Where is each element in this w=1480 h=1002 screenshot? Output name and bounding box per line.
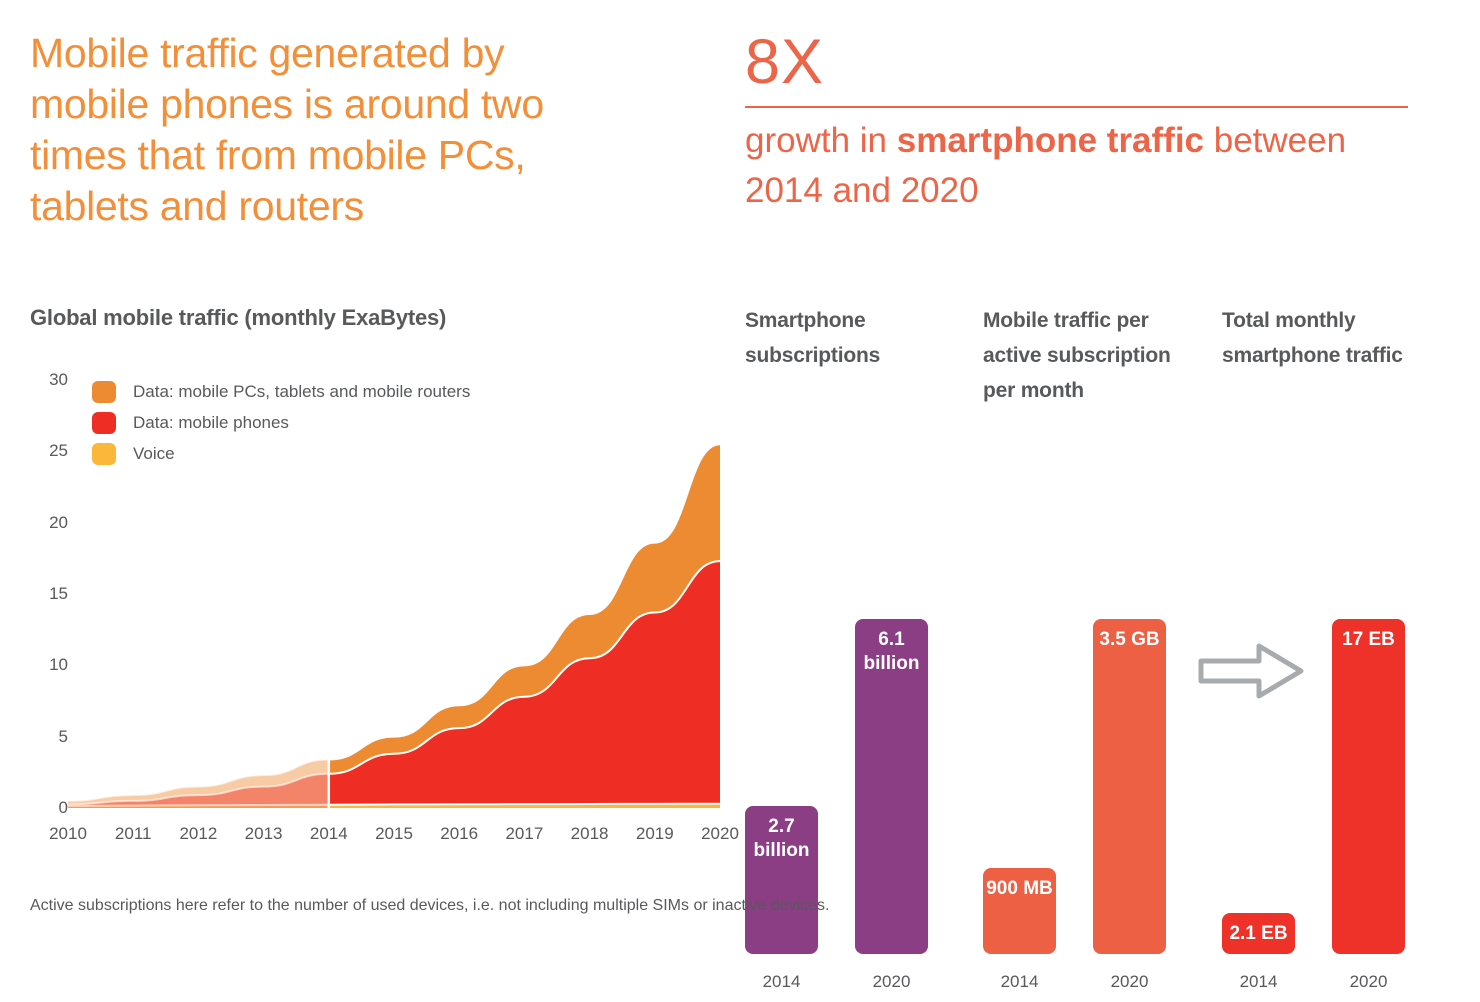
hero-divider (745, 106, 1408, 108)
x-axis-tick: 2012 (179, 824, 217, 844)
area-chart-plot (68, 380, 720, 808)
panel-bar-group: 2.7 billion20146.1 billion2020 (745, 502, 970, 1002)
chart-title: Global mobile traffic (monthly ExaBytes) (30, 305, 446, 331)
x-axis-tick: 2010 (49, 824, 87, 844)
x-axis-tick: 2014 (310, 824, 348, 844)
bar-column: 6.1 billion2020 (855, 619, 928, 954)
x-axis-tick: 2020 (701, 824, 739, 844)
bar-value-label: 2.1 EB (1229, 913, 1287, 954)
panel-title: Mobile traffic per active subscription p… (983, 303, 1208, 408)
bar-value-label: 3.5 GB (1099, 619, 1159, 954)
hero-subtitle-bold: smartphone traffic (897, 121, 1204, 160)
footnote: Active subscriptions here refer to the n… (30, 897, 830, 915)
bar-year-label: 2014 (983, 972, 1056, 992)
x-axis-tick: 2015 (375, 824, 413, 844)
bar-column: 900 MB2014 (983, 619, 1056, 954)
y-axis: 051015202530 (24, 370, 68, 820)
bar-year-label: 2014 (1222, 972, 1295, 992)
panel-bar-group: 900 MB20143.5 GB2020 (983, 502, 1208, 1002)
bar-value-label: 900 MB (986, 868, 1053, 954)
x-axis-tick: 2013 (245, 824, 283, 844)
bar-year-label: 2020 (1332, 972, 1405, 992)
y-axis-tick: 5 (59, 727, 68, 747)
x-axis-tick: 2018 (571, 824, 609, 844)
bar: 2.7 billion (745, 806, 818, 954)
bar-column: 3.5 GB2020 (1093, 619, 1166, 954)
x-axis-tick: 2017 (505, 824, 543, 844)
arrow-right-icon (1196, 640, 1306, 702)
panel-title: Total monthly smartphone traffic (1222, 303, 1447, 373)
hero-multiplier: 8X (745, 28, 1410, 96)
bar-value-label: 17 EB (1342, 619, 1395, 954)
panel-traffic-per-subscription: Mobile traffic per active subscription p… (983, 303, 1208, 408)
hero-subtitle-prefix: growth in (745, 121, 897, 160)
x-axis: 2010201120122013201420152016201720182019… (46, 824, 736, 850)
y-axis-tick: 25 (49, 441, 68, 461)
panel-smartphone-subscriptions: Smartphone subscriptions 2.7 billion2014… (745, 303, 970, 373)
y-axis-tick: 20 (49, 513, 68, 533)
infographic-page: Mobile traffic generated by mobile phone… (0, 0, 1480, 928)
y-axis-tick: 15 (49, 584, 68, 604)
y-axis-tick: 30 (49, 370, 68, 390)
bar: 2.1 EB (1222, 913, 1295, 954)
bar-year-label: 2020 (855, 972, 928, 992)
y-axis-tick: 0 (59, 798, 68, 818)
bar-year-label: 2020 (1093, 972, 1166, 992)
growth-arrow-icon (1196, 640, 1306, 702)
bar: 900 MB (983, 868, 1056, 954)
bar: 3.5 GB (1093, 619, 1166, 954)
hero-callout: 8X growth in smartphone traffic between … (745, 28, 1410, 216)
headline-left: Mobile traffic generated by mobile phone… (30, 28, 570, 232)
x-axis-tick: 2019 (636, 824, 674, 844)
bar-column: 17 EB2020 (1332, 619, 1405, 954)
panel-bar-group: 2.1 EB201417 EB2020 (1222, 502, 1447, 1002)
panel-title: Smartphone subscriptions (745, 303, 970, 373)
hero-subtitle: growth in smartphone traffic between 201… (745, 116, 1410, 216)
x-axis-tick: 2016 (440, 824, 478, 844)
area-chart-svg (68, 380, 720, 808)
y-axis-tick: 10 (49, 655, 68, 675)
bar: 6.1 billion (855, 619, 928, 954)
bar-value-label: 6.1 billion (864, 619, 920, 954)
bar-year-label: 2014 (745, 972, 818, 992)
bar: 17 EB (1332, 619, 1405, 954)
bar-value-label: 2.7 billion (754, 806, 810, 954)
panel-total-smartphone-traffic: Total monthly smartphone traffic 2.1 EB2… (1222, 303, 1447, 373)
x-axis-tick: 2011 (115, 824, 152, 844)
